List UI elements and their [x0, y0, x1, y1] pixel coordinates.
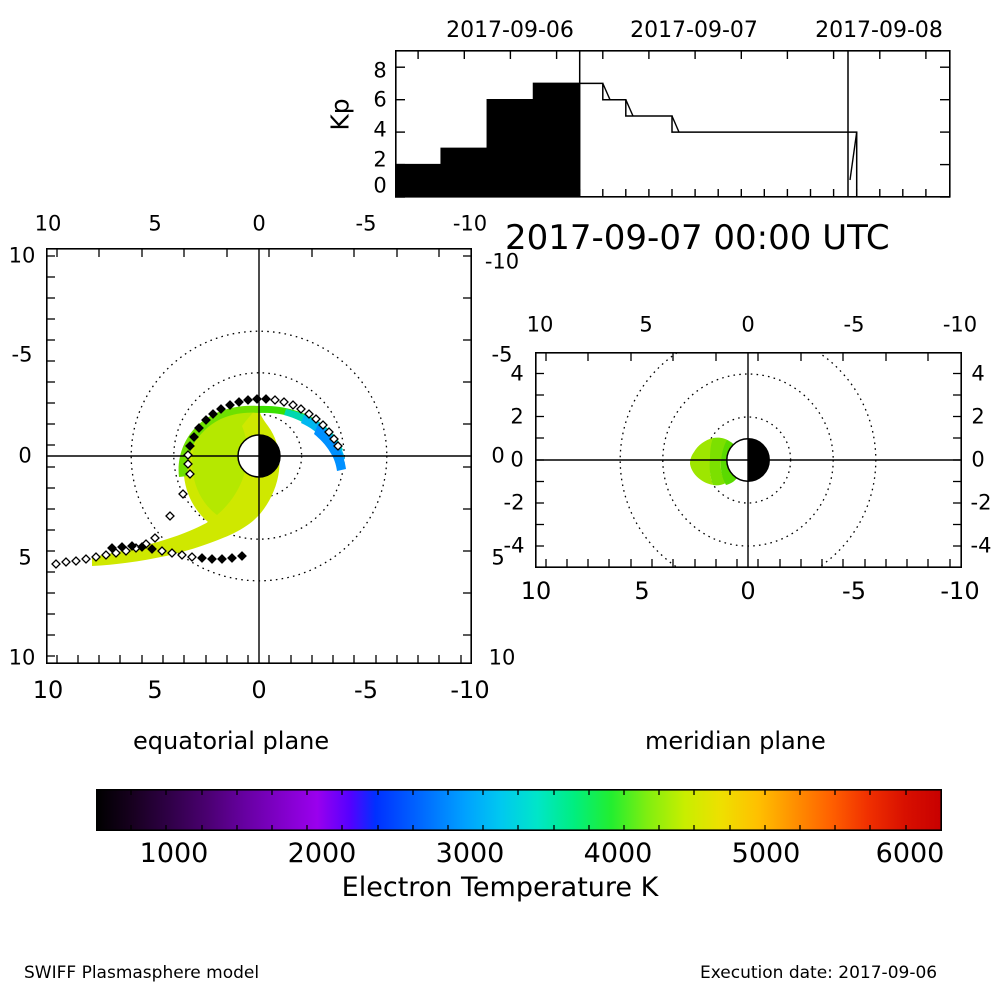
eq-left-tick-4: 10: [9, 648, 36, 669]
colorbar-title: Electron Temperature K: [342, 872, 659, 903]
mer-left-tick-1: 2: [510, 407, 523, 428]
mer-bottom-tick-4: -10: [940, 579, 979, 603]
equatorial-plane-caption: equatorial plane: [133, 727, 329, 755]
eq-top-tick-4: -10: [453, 214, 487, 235]
page-title: 2017-09-07 00:00 UTC: [505, 218, 890, 258]
meridian-plot: [535, 352, 962, 568]
eq-top-tick-2: 0: [252, 214, 265, 235]
kp-day-header-1: 2017-09-07: [630, 18, 758, 43]
mer-left-tick-0: 4: [510, 364, 523, 385]
meridian-plane-caption: meridian plane: [645, 727, 826, 755]
eq-top-tick-0: 10: [35, 214, 62, 235]
kp-day-header-2: 2017-09-08: [815, 18, 943, 43]
eq-bottom-tick-2: 0: [251, 678, 266, 702]
eq-left-tick-1: -5: [12, 345, 33, 366]
eq-bottom-tick-3: -5: [354, 678, 378, 702]
kp-ytick-4: 4: [373, 120, 386, 141]
eq-top-tick-1: 5: [148, 214, 161, 235]
eq-left-tick-0: 10: [9, 246, 36, 267]
mer-right-tick-1: 2: [971, 407, 984, 428]
colorbar-tick-6000: 6000: [876, 838, 945, 869]
mer-left-tick-3: -2: [504, 493, 525, 514]
eq-bottom-tick-4: -10: [450, 678, 489, 702]
eq-left-tick-2: 0: [18, 446, 31, 467]
mer-right-tick-2: 0: [971, 450, 984, 471]
mer-right-tick-4: -4: [971, 536, 992, 557]
mer-top-tick-0: 10: [527, 315, 554, 336]
mer-top-tick-1: 5: [639, 315, 652, 336]
mer-bottom-tick-3: -5: [842, 579, 866, 603]
eq-right-tick-2: 0: [491, 446, 504, 467]
eq-top-tick-3: -5: [356, 214, 377, 235]
mer-top-tick-4: -10: [943, 315, 977, 336]
kp-chart: [395, 50, 951, 198]
eq-bottom-tick-0: 10: [33, 678, 64, 702]
colorbar-tick-4000: 4000: [584, 838, 653, 869]
colorbar-tick-2000: 2000: [288, 838, 357, 869]
mer-right-tick-3: -2: [971, 493, 992, 514]
mer-right-tick-0: 4: [971, 364, 984, 385]
colorbar-tick-3000: 3000: [436, 838, 505, 869]
mer-left-tick-2: 0: [510, 450, 523, 471]
kp-ytick-0: 0: [373, 176, 386, 197]
kp-ytick-8: 8: [373, 61, 386, 82]
equatorial-plot: [46, 248, 472, 664]
mer-top-tick-3: -5: [844, 315, 865, 336]
mer-left-tick-4: -4: [504, 536, 525, 557]
footer-model-name: SWIFF Plasmasphere model: [24, 963, 259, 983]
kp-ytick-2: 2: [373, 150, 386, 171]
eq-right-tick-0: -10: [485, 252, 519, 273]
mer-top-tick-2: 0: [741, 315, 754, 336]
kp-day-header-0: 2017-09-06: [446, 18, 574, 43]
footer-execution-date: Execution date: 2017-09-06: [700, 963, 937, 983]
colorbar-gradient: [96, 789, 942, 831]
kp-ytick-6: 6: [373, 90, 386, 111]
mer-bottom-tick-0: 10: [521, 579, 552, 603]
mer-bottom-tick-2: 0: [740, 579, 755, 603]
kp-axis-label: Kp: [326, 87, 355, 143]
mer-bottom-tick-1: 5: [634, 579, 649, 603]
colorbar-tick-1000: 1000: [140, 838, 209, 869]
eq-right-tick-4: 10: [489, 648, 516, 669]
eq-left-tick-3: 5: [18, 548, 31, 569]
colorbar-tick-5000: 5000: [732, 838, 801, 869]
eq-bottom-tick-1: 5: [147, 678, 162, 702]
